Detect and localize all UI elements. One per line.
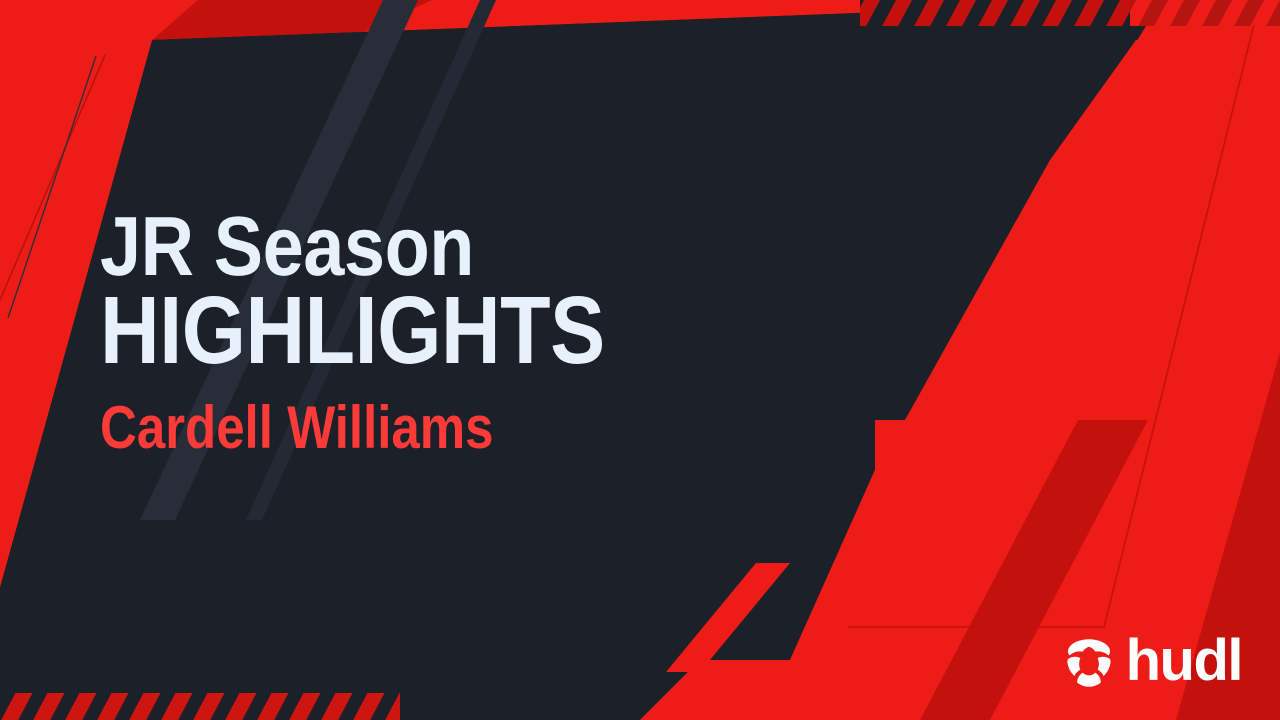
highlight-title-card: JR Season HIGHLIGHTS Cardell Williams hu… xyxy=(0,0,1280,720)
title-line-secondary: HIGHLIGHTS xyxy=(100,287,702,375)
hudl-wordmark: hudl xyxy=(1126,632,1242,690)
athlete-name: Cardell Williams xyxy=(100,398,695,458)
decor-hatch-bottom-left xyxy=(0,693,400,720)
hudl-shield-icon xyxy=(1062,636,1116,690)
title-block: JR Season HIGHLIGHTS Cardell Williams xyxy=(100,208,800,458)
title-line-primary: JR Season xyxy=(100,208,716,285)
decor-hatch-top-right-overlay xyxy=(1130,0,1280,26)
hudl-logo: hudl xyxy=(1062,634,1242,692)
